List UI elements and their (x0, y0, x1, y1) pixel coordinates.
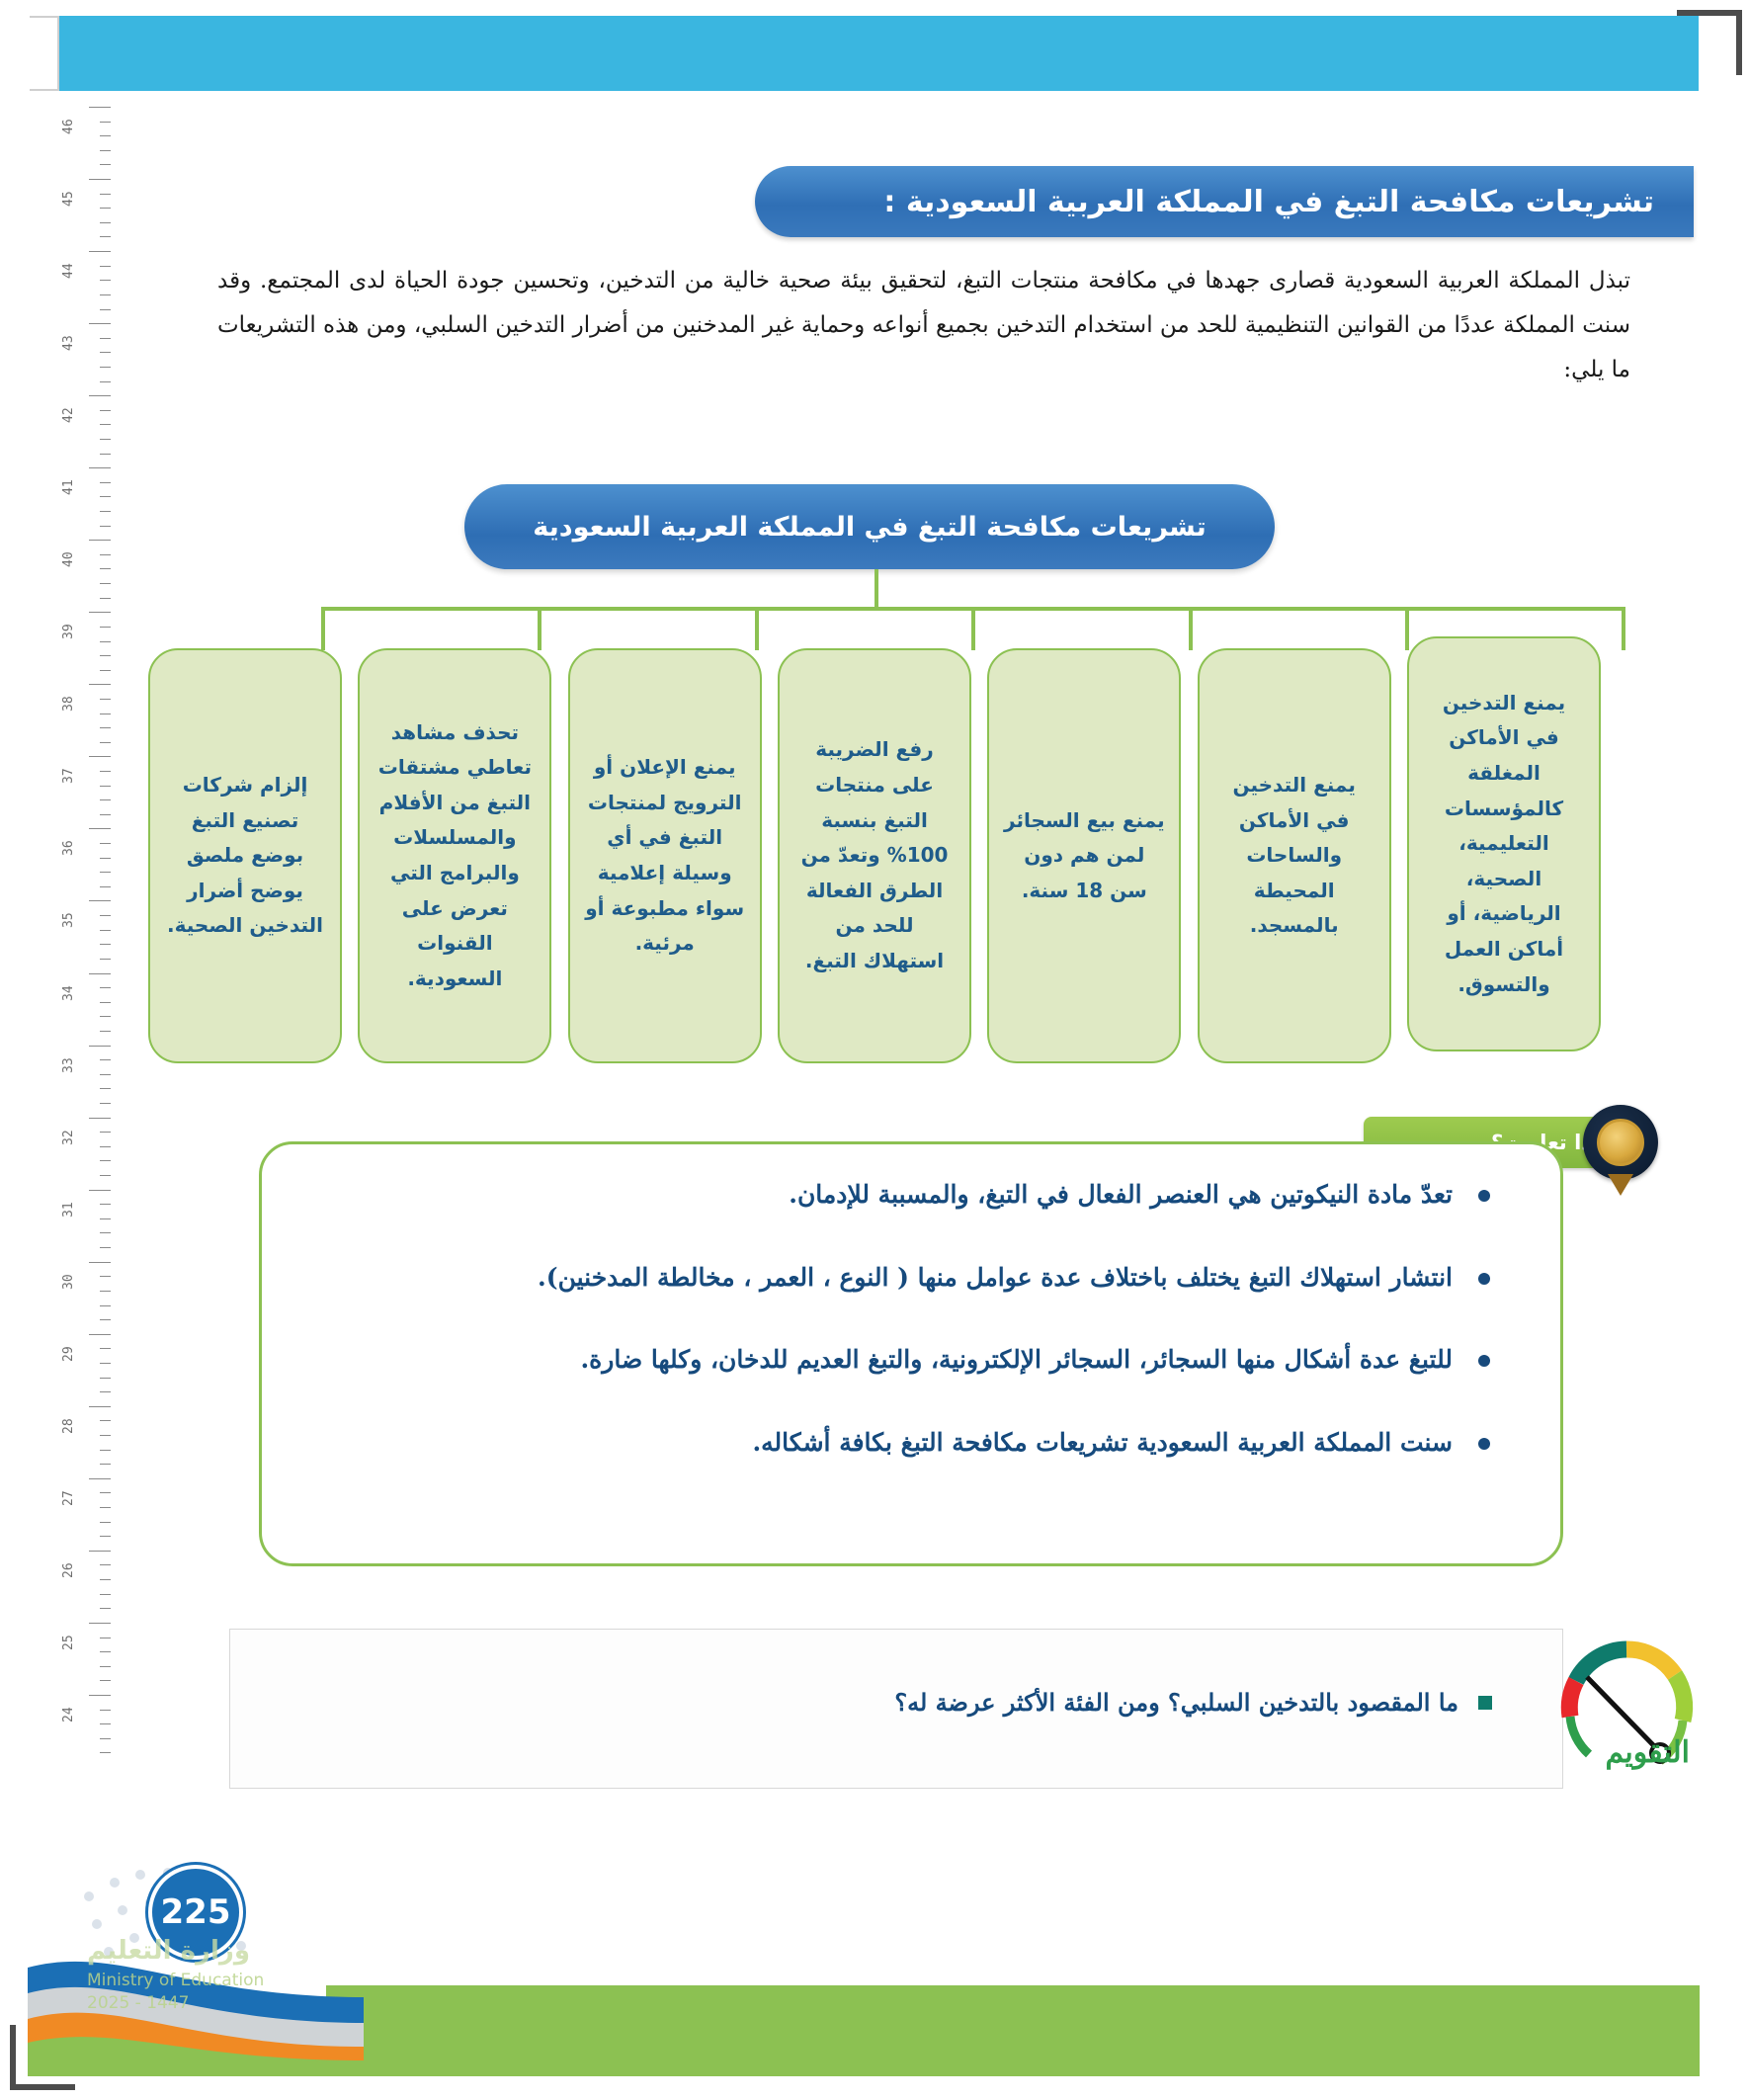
ruler-tick-minor (100, 410, 111, 411)
ruler-tick-minor (100, 886, 111, 887)
ruler-tick-minor (100, 727, 111, 728)
ruler-tick (89, 467, 111, 468)
ruler-tick-minor (100, 194, 111, 195)
diagram-root-node: تشريعات مكافحة التبغ في المملكة العربية … (464, 484, 1275, 569)
diagram-leaf-text: يمنع التدخين في الأماكن والساحات المحيطة… (1213, 768, 1375, 944)
ruler-tick (89, 1118, 111, 1119)
ruler-tick-minor (100, 843, 111, 844)
ruler-tick-minor (100, 266, 111, 267)
ruler-tick-minor (100, 236, 111, 237)
connector-drop-1 (321, 611, 325, 650)
ruler-tick-minor (100, 164, 111, 165)
connector-drop-6 (1405, 611, 1409, 650)
footer-green-band (326, 1985, 1700, 2076)
connector-drop-4 (971, 611, 975, 650)
ministry-name-english: Ministry of Education (87, 1970, 344, 1992)
ruler-tick-minor (100, 280, 111, 281)
connector-drop-5 (1189, 611, 1193, 650)
ruler-tick-minor (100, 771, 111, 772)
ruler-tick (89, 251, 111, 252)
ruler-label: 24 (61, 1707, 76, 1722)
ruler-tick-minor (100, 294, 111, 295)
ruler-tick-minor (100, 1594, 111, 1595)
connector-drop-2 (538, 611, 541, 650)
what-did-you-learn-list: تعدّ مادة النيكوتين هي العنصر الفعال في … (0, 1176, 1541, 1506)
ruler-label: 33 (61, 1057, 76, 1073)
ruler-label: 37 (61, 769, 76, 785)
ruler-tick-minor (100, 1160, 111, 1161)
ruler-label: 26 (61, 1562, 76, 1578)
ruler-tick (89, 828, 111, 829)
ruler-tick (89, 1695, 111, 1696)
ruler-tick-minor (100, 1103, 111, 1104)
ruler-tick-minor (100, 742, 111, 743)
ruler-tick-minor (100, 1638, 111, 1638)
ruler-label: 32 (61, 1130, 76, 1145)
diagram-leaf-text: يمنع التدخين في الأماكن المغلقة كالمؤسسا… (1423, 686, 1585, 1002)
ruler-tick-minor (100, 482, 111, 483)
ruler-tick (89, 612, 111, 613)
ruler-tick-minor (100, 150, 111, 151)
bullet-icon (1478, 1190, 1490, 1202)
ruler-tick-minor (100, 1059, 111, 1060)
intro-paragraph: تبذل المملكة العربية السعودية قصارى جهده… (217, 259, 1630, 392)
ruler-tick-minor (100, 1146, 111, 1147)
top-bar-notch (30, 16, 59, 91)
ruler-tick (89, 1551, 111, 1552)
ruler-tick-minor (100, 496, 111, 497)
textbook-page: 4645444342414039383736353433323130292827… (0, 0, 1749, 2100)
ruler-label: 42 (61, 408, 76, 424)
ruler-tick-minor (100, 367, 111, 368)
ruler-label: 41 (61, 480, 76, 496)
evaluation-question-text: ما المقصود بالتدخين السلبي؟ ومن الفئة ال… (894, 1688, 1458, 1717)
square-bullet-icon (1478, 1696, 1492, 1710)
bullet-icon (1478, 1438, 1490, 1450)
ruler-tick-minor (100, 1031, 111, 1032)
ruler-label: 36 (61, 841, 76, 857)
diagram-leaf-text: يمنع بيع السجائر لمن هم دون سن 18 سنة. (1003, 803, 1165, 909)
ruler-tick-minor (100, 1752, 111, 1753)
ruler-tick-minor (100, 1088, 111, 1089)
ruler-tick-minor (100, 381, 111, 382)
ruler-tick (89, 973, 111, 974)
learned-list-item: انتشار استهلاك التبغ يختلف باختلاف عدة ع… (0, 1259, 1490, 1297)
evaluation-label: التقويم (1605, 1735, 1690, 1770)
ruler-tick-minor (100, 598, 111, 599)
ruler-tick-minor (100, 959, 111, 960)
ruler-tick-minor (100, 1074, 111, 1075)
diagram-root-label: تشريعات مكافحة التبغ في المملكة العربية … (533, 512, 1206, 543)
section-heading-text: تشريعات مكافحة التبغ في المملكة العربية … (883, 185, 1654, 219)
ruler-tick (89, 395, 111, 396)
section-heading-banner: تشريعات مكافحة التبغ في المملكة العربية … (755, 166, 1694, 237)
ruler-label: 45 (61, 191, 76, 207)
ruler-tick-minor (100, 554, 111, 555)
diagram-leaf-row: إلزام شركات تصنيع التبغ بوضع ملصق يوضح أ… (148, 648, 1601, 1063)
bullet-icon (1478, 1355, 1490, 1367)
diagram-leaf-text: إلزام شركات تصنيع التبغ بوضع ملصق يوضح أ… (164, 768, 326, 944)
ruler-tick-minor (100, 714, 111, 714)
crop-mark-bottom-vertical (10, 2025, 16, 2090)
ruler-tick-minor (100, 568, 111, 569)
ruler-tick (89, 900, 111, 901)
ruler-tick-minor (100, 1608, 111, 1609)
diagram-leaf-text: تحذف مشاهد تعاطي مشتقات التبغ من الأفلام… (374, 715, 536, 997)
ruler-tick (89, 540, 111, 541)
ruler-tick-minor (100, 526, 111, 527)
ruler-tick-minor (100, 858, 111, 859)
ruler-tick-minor (100, 1536, 111, 1537)
ruler-tick-minor (100, 641, 111, 642)
ruler-label: 35 (61, 913, 76, 929)
ruler-tick-minor (100, 1132, 111, 1133)
ruler-tick-minor (100, 799, 111, 800)
ruler-tick-minor (100, 627, 111, 628)
bullet-icon (1478, 1273, 1490, 1285)
diagram-leaf-box: يمنع التدخين في الأماكن المغلقة كالمؤسسا… (1407, 636, 1601, 1051)
tobacco-legislation-diagram: تشريعات مكافحة التبغ في المملكة العربية … (148, 484, 1601, 1087)
ruler-tick-minor (100, 222, 111, 223)
medal-inner-disc (1597, 1119, 1644, 1166)
ruler-label: 39 (61, 625, 76, 640)
ruler-tick-minor (100, 352, 111, 353)
diagram-leaf-box: إلزام شركات تصنيع التبغ بوضع ملصق يوضح أ… (148, 648, 342, 1063)
ruler-tick-minor (100, 309, 111, 310)
ruler-tick-minor (100, 930, 111, 931)
ruler-label: 34 (61, 985, 76, 1001)
ruler-tick-minor (100, 1564, 111, 1565)
ruler-tick-minor (100, 1002, 111, 1003)
ruler-label: 38 (61, 697, 76, 713)
ruler-tick-minor (100, 583, 111, 584)
ruler-tick-minor (100, 1680, 111, 1681)
diagram-leaf-box: رفع الضريبة على منتجات التبغ بنسبة 100% … (778, 648, 971, 1063)
ruler-tick-minor (100, 814, 111, 815)
ruler-label: 40 (61, 552, 76, 568)
ruler-tick-minor (100, 1522, 111, 1523)
ruler-label: 25 (61, 1635, 76, 1650)
diagram-leaf-text: رفع الضريبة على منتجات التبغ بنسبة 100% … (793, 732, 956, 978)
ruler-tick (89, 1623, 111, 1624)
learned-list-text: انتشار استهلاك التبغ يختلف باختلاف عدة ع… (59, 1259, 1453, 1297)
ruler-tick (89, 107, 111, 108)
ruler-tick (89, 684, 111, 685)
ruler-tick-minor (100, 1723, 111, 1724)
learned-list-item: سنت المملكة العربية السعودية تشريعات مكا… (0, 1424, 1490, 1462)
page-ruler: 4645444342414039383736353433323130292827… (55, 99, 111, 1759)
ruler-tick-minor (100, 1738, 111, 1739)
diagram-leaf-box: يمنع التدخين في الأماكن والساحات المحيطة… (1198, 648, 1391, 1063)
learned-list-item: للتبغ عدة أشكال منها السجائر، السجائر ال… (0, 1341, 1490, 1379)
ruler-tick (89, 323, 111, 324)
ruler-tick-minor (100, 944, 111, 945)
ruler-tick-minor (100, 699, 111, 700)
crop-mark-top (1677, 10, 1742, 16)
ruler-tick (89, 179, 111, 180)
ruler-tick-minor (100, 655, 111, 656)
ministry-name-arabic: وزارة التعليم (87, 1936, 250, 1966)
ruler-tick-minor (100, 1666, 111, 1667)
ruler-tick-minor (100, 1016, 111, 1017)
learned-list-text: تعدّ مادة النيكوتين هي العنصر الفعال في … (59, 1176, 1453, 1214)
crop-mark-top-vertical (1736, 10, 1742, 75)
diagram-leaf-box: يمنع بيع السجائر لمن هم دون سن 18 سنة. (987, 648, 1181, 1063)
medal-ribbon (1608, 1174, 1633, 1196)
medal-icon (1583, 1105, 1658, 1180)
top-decorative-bar (55, 16, 1699, 91)
ruler-tick-minor (100, 135, 111, 136)
ruler-tick-minor (100, 872, 111, 873)
ruler-tick (89, 1046, 111, 1047)
connector-drop-7 (1622, 611, 1625, 650)
ruler-label: 44 (61, 263, 76, 279)
ruler-label: 46 (61, 119, 76, 134)
ruler-tick-minor (100, 915, 111, 916)
ruler-tick-minor (100, 1507, 111, 1508)
learned-list-item: تعدّ مادة النيكوتين هي العنصر الفعال في … (0, 1176, 1490, 1214)
connector-root-vertical (874, 569, 878, 609)
ruler-tick-minor (100, 338, 111, 339)
ruler-tick-minor (100, 1579, 111, 1580)
ruler-tick (89, 756, 111, 757)
ruler-tick-minor (100, 439, 111, 440)
learned-list-text: سنت المملكة العربية السعودية تشريعات مكا… (59, 1424, 1453, 1462)
ruler-tick-minor (100, 1651, 111, 1652)
evaluation-question-row: ما المقصود بالتدخين السلبي؟ ومن الفئة ال… (464, 1688, 1492, 1717)
ruler-tick-minor (100, 122, 111, 123)
ruler-tick-minor (100, 987, 111, 988)
ministry-footer-text: Ministry of Education 2025 - 1447 (87, 1970, 344, 2015)
ruler-label: 43 (61, 335, 76, 351)
crop-mark-bottom (10, 2084, 75, 2090)
learned-list-text: للتبغ عدة أشكال منها السجائر، السجائر ال… (59, 1341, 1453, 1379)
connector-drop-3 (755, 611, 759, 650)
diagram-leaf-box: تحذف مشاهد تعاطي مشتقات التبغ من الأفلام… (358, 648, 551, 1063)
ruler-tick-minor (100, 454, 111, 455)
ministry-years: 2025 - 1447 (87, 1992, 344, 2015)
ruler-tick-minor (100, 786, 111, 787)
ruler-tick-minor (100, 1710, 111, 1711)
ruler-tick-minor (100, 511, 111, 512)
ruler-tick-minor (100, 424, 111, 425)
diagram-leaf-box: يمنع الإعلان أو الترويج لمنتجات التبغ في… (568, 648, 762, 1063)
ruler-tick-minor (100, 670, 111, 671)
diagram-leaf-text: يمنع الإعلان أو الترويج لمنتجات التبغ في… (584, 750, 746, 962)
ruler-tick-minor (100, 208, 111, 209)
